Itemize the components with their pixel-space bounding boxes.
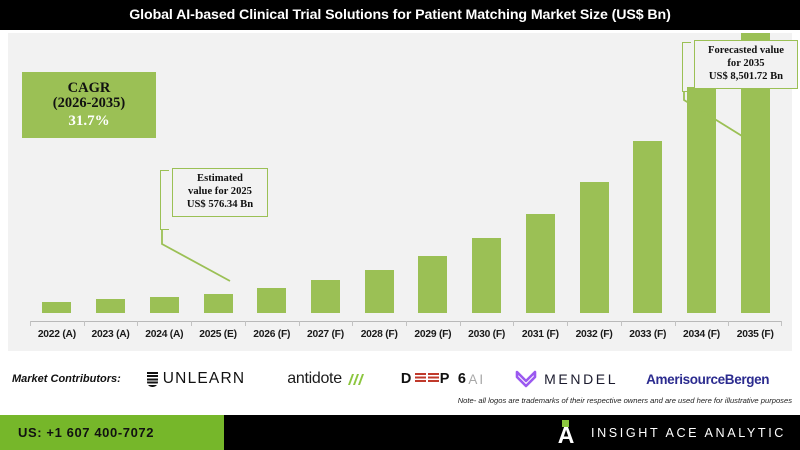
x-label-2029: 2029 (F): [406, 329, 460, 347]
x-tick: [513, 321, 567, 326]
bar-2029[interactable]: [418, 256, 447, 313]
x-tick: [137, 321, 191, 326]
x-tick: [299, 321, 353, 326]
bar-2031[interactable]: [526, 214, 555, 313]
deep6-letters-p6: P 6: [440, 371, 469, 387]
callout-2025-line3: US$ 576.34 Bn: [180, 199, 260, 212]
x-tick: [245, 321, 299, 326]
brand-lockup: A INSIGHT ACE ANALYTIC: [553, 415, 786, 450]
x-tick: [352, 321, 406, 326]
x-tick: [728, 321, 782, 326]
x-label-2031: 2031 (F): [513, 329, 567, 347]
bar-slot: [406, 41, 460, 313]
x-label-2023: 2023 (A): [84, 329, 138, 347]
bar-slot: [352, 41, 406, 313]
deep6-ai-suffix: AI: [468, 372, 485, 387]
bar-slot: [299, 41, 353, 313]
callout-forecast-2035: Forecasted value for 2035 US$ 8,501.72 B…: [694, 40, 798, 89]
bar-2022[interactable]: [42, 302, 71, 313]
cagr-label: CAGR: [68, 81, 111, 97]
title-bar: Global AI-based Clinical Trial Solutions…: [0, 0, 800, 30]
x-label-2026: 2026 (F): [245, 329, 299, 347]
x-tick: [406, 321, 460, 326]
bar-2025[interactable]: [204, 294, 233, 313]
callout-2035-line1: Forecasted value: [702, 45, 790, 58]
bar-2033[interactable]: [633, 141, 662, 313]
bar-2024[interactable]: [150, 297, 179, 313]
x-label-2035: 2035 (F): [728, 329, 782, 347]
cagr-period: (2026-2035): [53, 96, 126, 112]
bar-slot: [513, 41, 567, 313]
cagr-value: 31.7%: [68, 113, 109, 129]
bar-2034[interactable]: [687, 87, 716, 313]
x-label-2033: 2033 (F): [621, 329, 675, 347]
logo-mendel: MENDEL: [515, 370, 618, 388]
bar-2030[interactable]: [472, 238, 501, 313]
deep6-letter-d: D: [401, 371, 414, 387]
bar-slot: [621, 41, 675, 313]
phone-number[interactable]: US: +1 607 400-7072: [18, 425, 154, 440]
logo-deep6ai: DP 6 AI: [401, 371, 485, 387]
callout-2035-line3: US$ 8,501.72 Bn: [702, 71, 790, 84]
mendel-wordmark: MENDEL: [544, 371, 618, 387]
deep6-wordmark: DP 6: [401, 371, 469, 387]
mendel-butterfly-icon: [515, 370, 537, 388]
callout-2025-line2: value for 2025: [180, 186, 260, 199]
antidote-slashes-icon: [345, 371, 365, 387]
antidote-wordmark: antidote: [287, 370, 342, 388]
unlearn-bars-icon: [147, 372, 158, 387]
callout-2025-line1: Estimated: [180, 173, 260, 186]
callout-estimate-2025: Estimated value for 2025 US$ 576.34 Bn: [172, 168, 268, 217]
x-tick: [675, 321, 729, 326]
x-label-2034: 2034 (F): [675, 329, 729, 347]
infographic-page: Global AI-based Clinical Trial Solutions…: [0, 0, 800, 450]
phone-block[interactable]: US: +1 607 400-7072: [0, 415, 224, 450]
x-axis-labels: 2022 (A)2023 (A)2024 (A)2025 (E)2026 (F)…: [30, 329, 782, 347]
bar-2027[interactable]: [311, 280, 340, 313]
cagr-badge: CAGR (2026-2035) 31.7%: [22, 72, 156, 138]
page-title: Global AI-based Clinical Trial Solutions…: [129, 7, 671, 23]
bar-slot: [567, 41, 621, 313]
deep6-striped-e-icon: [415, 373, 426, 384]
chart-panel: 2022 (A)2023 (A)2024 (A)2025 (E)2026 (F)…: [8, 33, 792, 351]
x-label-2028: 2028 (F): [352, 329, 406, 347]
x-label-2030: 2030 (F): [460, 329, 514, 347]
callout-bracket-2035: [682, 42, 691, 92]
logo-antidote: antidote: [287, 370, 365, 388]
bar-2028[interactable]: [365, 270, 394, 313]
bar-2026[interactable]: [257, 288, 286, 313]
x-label-2027: 2027 (F): [299, 329, 353, 347]
x-tick: [30, 321, 84, 326]
x-label-2025: 2025 (E): [191, 329, 245, 347]
amerisourcebergen-wordmark: AmerisourceBergen: [646, 372, 769, 387]
contributors-row: Market Contributors: UNLEARN antidote D: [12, 363, 792, 395]
x-tick: [621, 321, 675, 326]
deep6-striped-e2-icon: [428, 373, 439, 384]
x-label-2022: 2022 (A): [30, 329, 84, 347]
x-tick: [191, 321, 245, 326]
trademark-note: Note- all logos are trademarks of their …: [458, 396, 792, 405]
x-tick: [567, 321, 621, 326]
callout-bracket-2025: [160, 170, 169, 230]
contributors-strip: Market Contributors: UNLEARN antidote D: [0, 355, 800, 415]
x-tick: [84, 321, 138, 326]
bar-2023[interactable]: [96, 299, 125, 313]
callout-2035-line2: for 2035: [702, 58, 790, 71]
bar-slot: [460, 41, 514, 313]
logo-letter-a: A: [553, 425, 579, 446]
footer-bar: US: +1 607 400-7072 A INSIGHT ACE ANALYT…: [0, 415, 800, 450]
x-label-2032: 2032 (F): [567, 329, 621, 347]
brand-name: INSIGHT ACE ANALYTIC: [591, 426, 786, 440]
unlearn-wordmark: UNLEARN: [163, 370, 245, 388]
x-tick: [460, 321, 514, 326]
bar-2032[interactable]: [580, 182, 609, 313]
insightace-a-logo-icon: A: [553, 420, 579, 446]
logo-amerisourcebergen: AmerisourceBergen: [646, 372, 769, 387]
logo-unlearn: UNLEARN: [147, 370, 245, 388]
contributors-label: Market Contributors:: [12, 373, 121, 385]
x-label-2024: 2024 (A): [137, 329, 191, 347]
x-axis-ticks: [30, 321, 782, 326]
